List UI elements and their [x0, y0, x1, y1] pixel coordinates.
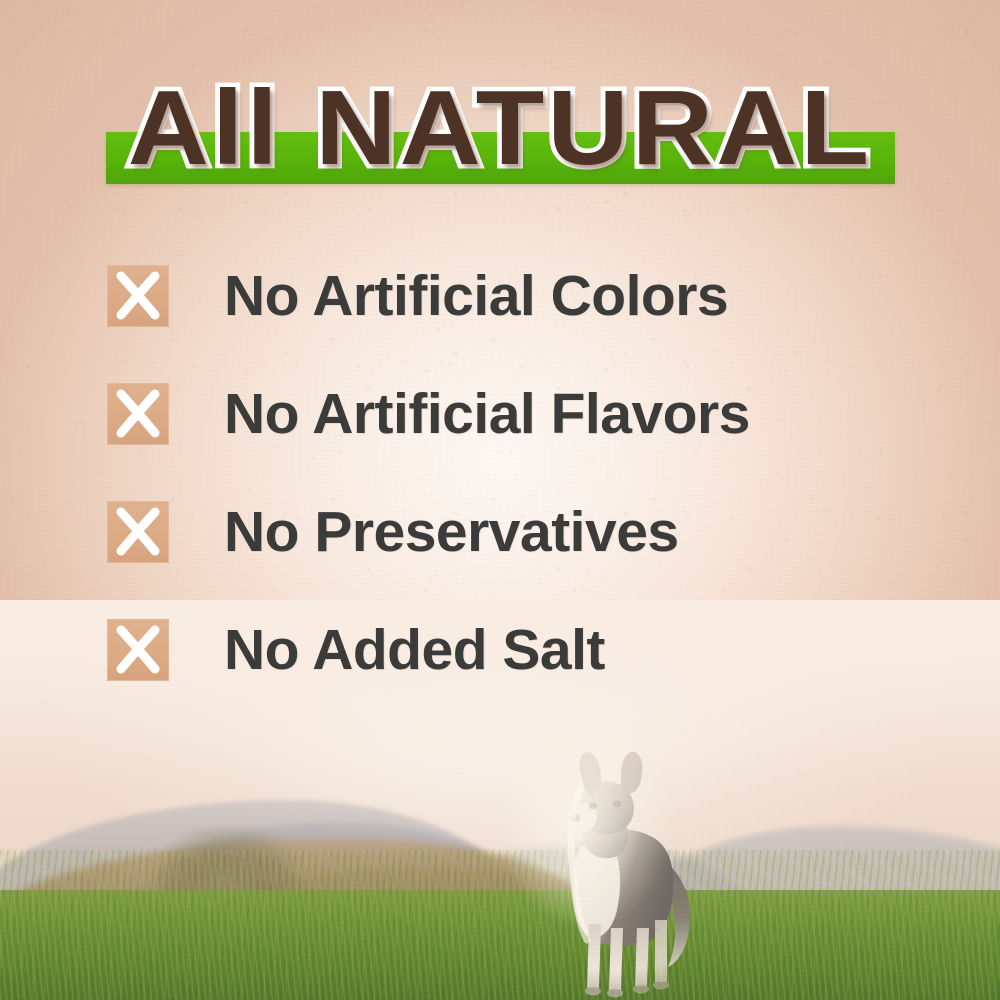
- headline-block: All NATURAL: [0, 74, 1000, 194]
- list-item-label: No Preservatives: [224, 501, 679, 563]
- page-title: All NATURAL: [0, 74, 1000, 182]
- list-item: No Added Salt: [107, 616, 927, 684]
- x-mark-icon: [107, 383, 169, 445]
- x-mark-icon: [107, 501, 169, 563]
- x-mark-icon: [107, 619, 169, 681]
- list-item-label: No Artificial Flavors: [224, 383, 750, 445]
- all-natural-product-callout: All NATURAL No Artificial Colors No Arti…: [0, 0, 1000, 1000]
- claims-list: No Artificial Colors No Artificial Flavo…: [107, 262, 927, 684]
- list-item: No Artificial Flavors: [107, 380, 927, 448]
- list-item: No Preservatives: [107, 498, 927, 566]
- x-mark-icon: [107, 265, 169, 327]
- list-item: No Artificial Colors: [107, 262, 927, 330]
- list-item-label: No Added Salt: [224, 619, 605, 681]
- list-item-label: No Artificial Colors: [224, 265, 728, 327]
